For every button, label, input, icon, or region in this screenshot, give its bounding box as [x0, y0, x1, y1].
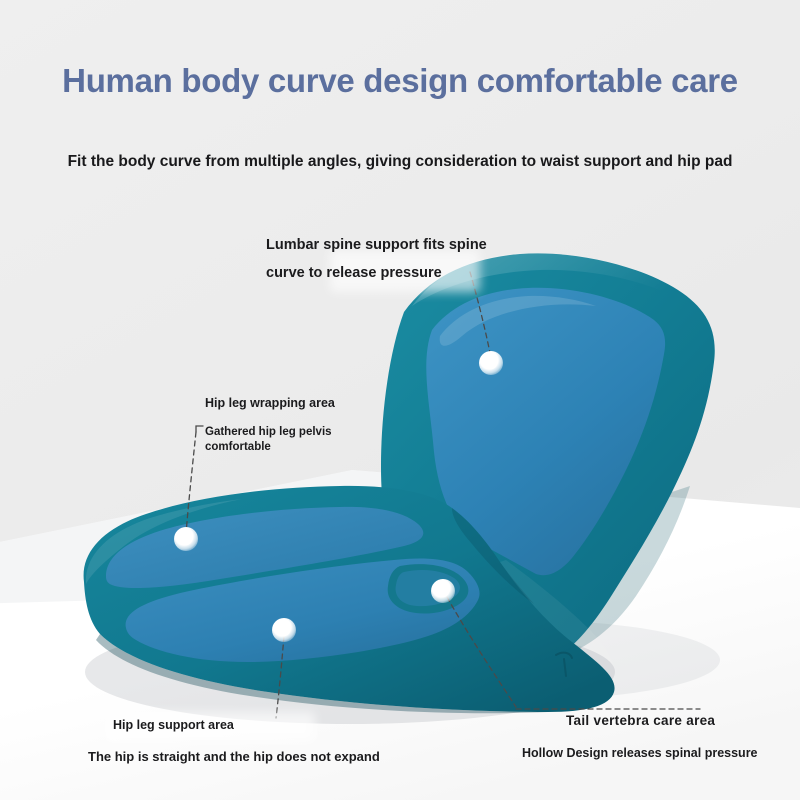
annotation-tail-vertebra-title: Tail vertebra care area	[566, 711, 715, 731]
annotation-hip-leg-wrapping-title: Hip leg wrapping area	[205, 394, 335, 412]
page-title: Human body curve design comfortable care	[0, 62, 800, 100]
annotation-lumbar-spine: Lumbar spine support fits spine curve to…	[266, 231, 487, 288]
annotation-hip-leg-wrapping-sub-line-2: comfortable	[205, 440, 332, 455]
product-infographic-poster: Human body curve design comfortable care…	[0, 0, 800, 800]
cushion-artwork-svg	[0, 0, 800, 800]
annotation-lumbar-line-1: Lumbar spine support fits spine	[266, 231, 487, 259]
product-illustration	[0, 0, 800, 800]
page-subtitle: Fit the body curve from multiple angles,…	[0, 153, 800, 171]
annotation-hip-leg-wrapping-subtitle: Gathered hip leg pelvis comfortable	[205, 425, 332, 455]
annotation-tail-vertebra-subtitle: Hollow Design releases spinal pressure	[522, 744, 758, 762]
annotation-hip-leg-wrapping-sub-line-1: Gathered hip leg pelvis	[205, 425, 332, 440]
leader-bracket-wrapping	[196, 426, 203, 432]
annotation-hip-leg-support-subtitle: The hip is straight and the hip does not…	[88, 748, 380, 767]
annotation-lumbar-line-2: curve to release pressure	[266, 259, 487, 287]
annotation-hip-leg-support-title: Hip leg support area	[113, 716, 234, 734]
